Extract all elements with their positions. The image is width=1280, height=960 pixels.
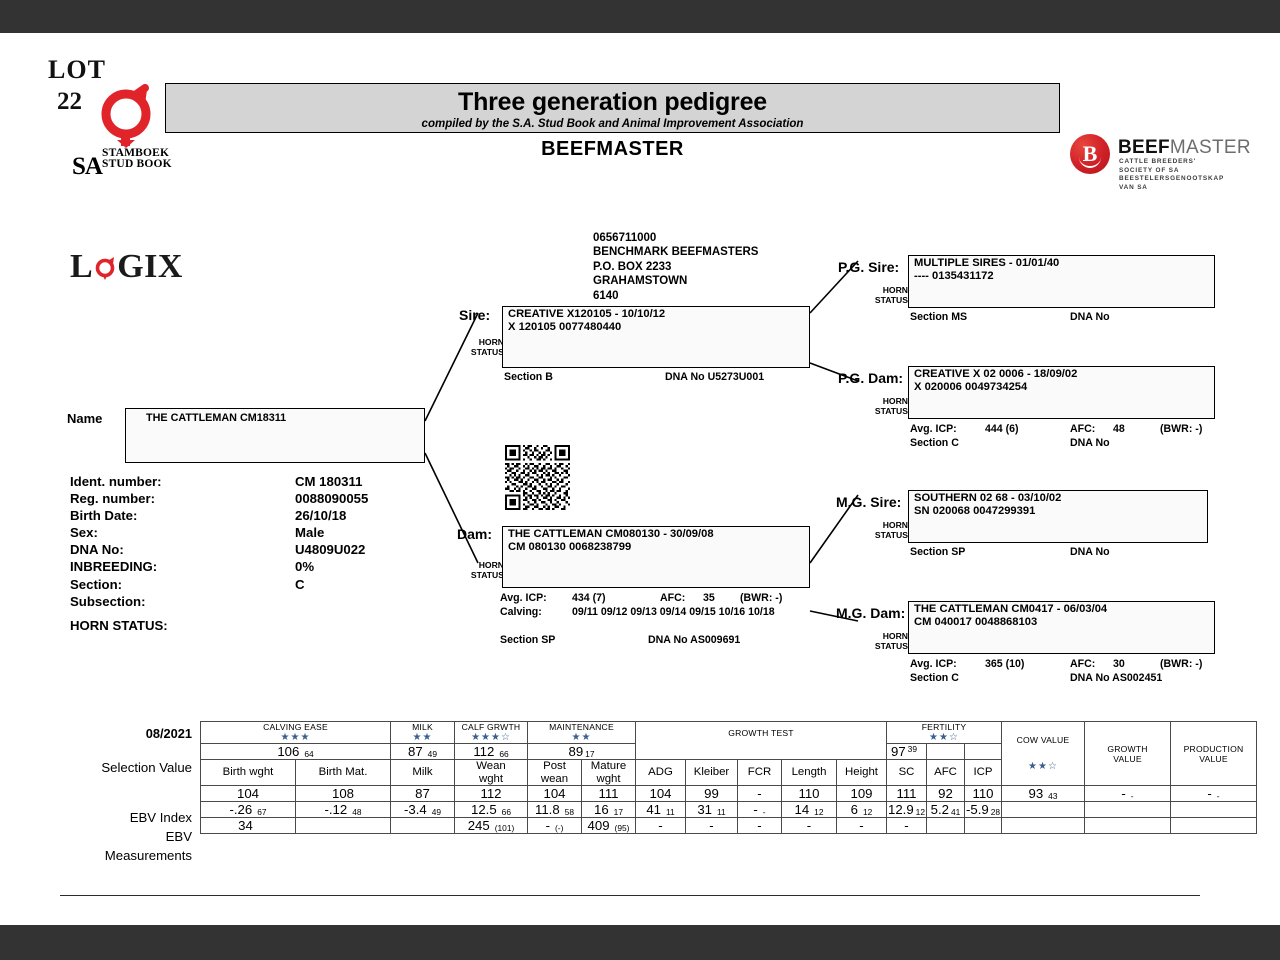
meas-post-wean: -(-): [528, 818, 582, 834]
dam-section: Section SP: [500, 634, 555, 646]
pg-dam-label: P.G. Dam:: [838, 370, 903, 386]
pg-dam-afc-label: AFC:: [1070, 423, 1095, 435]
pg-sire-section: Section MS: [910, 311, 967, 323]
breed-name: BEEFMASTER: [165, 138, 1060, 161]
mg-dam-bwr: (BWR: -): [1160, 658, 1202, 670]
col-milk: Milk: [391, 760, 455, 786]
mg-sire-box: SOUTHERN 02 68 - 03/10/02 SN 020068 0047…: [908, 490, 1208, 543]
group-growth-test: GROWTH TEST: [636, 722, 887, 760]
row-dna-no: DNA No:U4809U022: [70, 541, 368, 558]
mg-dam-icp-label: Avg. ICP:: [910, 658, 957, 670]
group-milk: MILK ★★: [391, 722, 455, 744]
ebvidx-birth-wght: 104: [201, 786, 296, 802]
row-subsection: Subsection:: [70, 593, 368, 610]
dam-label: Dam:: [457, 526, 492, 542]
group-calf-grwth-label: CALF GRWTH: [455, 722, 527, 732]
meas-production-value-blank: [1171, 818, 1257, 834]
group-fertility: FERTILITY ★★☆: [887, 722, 1002, 744]
sire-box: CREATIVE X120105 - 10/10/12 X 120105 007…: [502, 306, 810, 368]
pg-dam-section: Section C: [910, 437, 959, 449]
col-birth-mat: Birth Mat.: [296, 760, 391, 786]
animal-identity-table: Ident. number:CM 180311 Reg. number:0088…: [70, 473, 368, 610]
breeder-po-box: P.O. BOX 2233: [593, 261, 671, 273]
mg-dam-section: Section C: [910, 672, 959, 684]
sa-studbook-wordmark: SASTAMBOEKSTUD BOOK: [72, 148, 172, 181]
dam-name: THE CATTLEMAN CM080130 - 30/09/08: [508, 528, 714, 540]
sel-fertility: 9739: [887, 744, 927, 760]
beefmaster-sub2: BEESTELERSGENOOTSKAP VAN SA: [1119, 175, 1224, 191]
mg-sire-dna: DNA No: [1070, 546, 1110, 558]
mg-sire-ids: SN 020068 0047299391: [914, 505, 1035, 517]
row-section: Section:C: [70, 576, 368, 593]
ebv-wean-wght: 12.566: [455, 802, 528, 818]
ebv-kleiber: 3111: [686, 802, 738, 818]
row-label-ebv: EBV: [60, 829, 192, 844]
qr-code-icon: [505, 445, 570, 510]
logix-o-ring-icon: [93, 252, 117, 278]
beefmaster-wordmark: BEEFMASTER: [1118, 137, 1251, 159]
ebvidx-length: 110: [782, 786, 837, 802]
value-ident-number: CM 180311: [295, 474, 362, 489]
dam-icp-value: 434 (7): [572, 592, 606, 604]
ebvidx-milk: 87: [391, 786, 455, 802]
table-row-ebv: -.2667 -.1248 -3.449 12.566 11.858 1617 …: [201, 802, 1257, 818]
sel-calving-ease: 10664: [201, 744, 391, 760]
pg-sire-ids: ---- 0135431172: [914, 270, 994, 282]
sa-studbook-emblem-icon: [95, 78, 163, 148]
group-calf-grwth: CALF GRWTH ★★★☆: [455, 722, 528, 744]
ebvidx-kleiber: 99: [686, 786, 738, 802]
group-calving-ease-stars: ★★★: [201, 733, 390, 743]
sel-blank-2: [965, 744, 1002, 760]
value-inbreeding: 0%: [295, 559, 314, 574]
group-calving-ease-label: CALVING EASE: [201, 722, 390, 732]
beefmaster-sub1: CATTLE BREEDERS' SOCIETY OF SA: [1119, 158, 1196, 174]
ebv-mature-wght: 1617: [582, 802, 636, 818]
top-black-bar: [0, 0, 1280, 33]
dam-bwr: (BWR: -): [740, 592, 782, 604]
ebv-sc: 12.912: [887, 802, 927, 818]
banner-subtitle: compiled by the S.A. Stud Book and Anima…: [166, 118, 1059, 130]
animal-name: THE CATTLEMAN CM18311: [146, 412, 286, 424]
ebvidx-sc: 111: [887, 786, 927, 802]
pg-sire-dna: DNA No: [1070, 311, 1110, 323]
meas-icp: [965, 818, 1002, 834]
ebv-post-wean: 11.858: [528, 802, 582, 818]
ebv-height: 612: [837, 802, 887, 818]
dam-afc-label: AFC:: [660, 592, 685, 604]
col-mature-wght: Maturewght: [582, 760, 636, 786]
col-adg: ADG: [636, 760, 686, 786]
group-calving-ease: CALVING EASE ★★★: [201, 722, 391, 744]
meas-cow-value-blank: [1002, 818, 1085, 834]
meas-growth-value-blank: [1085, 818, 1171, 834]
value-reg-number: 0088090055: [295, 491, 368, 506]
mg-dam-name: THE CATTLEMAN CM0417 - 06/03/04: [914, 603, 1107, 615]
ebv-icp: -5.928: [965, 802, 1002, 818]
mg-dam-icp-value: 365 (10): [985, 658, 1024, 670]
meas-mature-wght: 409(95): [582, 818, 636, 834]
growth-value-acc: -: [1126, 791, 1134, 801]
mg-sire-label: M.G. Sire:: [836, 494, 901, 510]
meas-wean-wght: 245(101): [455, 818, 528, 834]
sel-calf-grwth: 11266: [455, 744, 528, 760]
ebvidx-adg: 104: [636, 786, 686, 802]
row-sex: Sex:Male: [70, 524, 368, 541]
title-banner: Three generation pedigree compiled by th…: [165, 83, 1060, 133]
dam-horn-status-label: HORNSTATUS: [458, 560, 504, 580]
beefmaster-letter: B: [1070, 134, 1110, 174]
mg-sire-horn-status-label: HORNSTATUS: [862, 520, 908, 540]
group-milk-stars: ★★: [391, 733, 454, 743]
col-length: Length: [782, 760, 837, 786]
label-section: Section:: [70, 576, 295, 593]
ebvidx-cow-value: 9343: [1002, 786, 1085, 802]
ebv-length: 1412: [782, 802, 837, 818]
beefmaster-bold: BEEF: [1118, 137, 1170, 158]
lot-number: 22: [57, 88, 82, 116]
mg-dam-afc-value: 30: [1113, 658, 1125, 670]
mg-dam-box: THE CATTLEMAN CM0417 - 06/03/04 CM 04001…: [908, 601, 1215, 654]
group-growth-test-label: GROWTH TEST: [636, 728, 886, 738]
ebv-adg: 4111: [636, 802, 686, 818]
row-label-ebv-index: EBV Index: [60, 810, 192, 825]
group-growth-value: GROWTHVALUE: [1085, 722, 1171, 786]
ebv-birth-mat: -.1248: [296, 802, 391, 818]
cow-value-acc: 43: [1043, 791, 1057, 801]
meas-birth-mat: [296, 818, 391, 834]
pg-sire-label: P.G. Sire:: [838, 259, 899, 275]
logix-logo: LGIX: [70, 248, 183, 286]
label-inbreeding: INBREEDING:: [70, 558, 295, 575]
ebvidx-height: 109: [837, 786, 887, 802]
pg-dam-box: CREATIVE X 02 0006 - 18/09/02 X 020006 0…: [908, 366, 1215, 419]
sel-blank-1: [927, 744, 965, 760]
sel-fertility-acc: 39: [906, 744, 917, 754]
table-row-measurements: 34 245(101) -(-) 409(95) - - - - - -: [201, 818, 1257, 834]
sel-milk-acc: 49: [423, 749, 437, 759]
pg-dam-icp-label: Avg. ICP:: [910, 423, 957, 435]
pg-dam-afc-value: 48: [1113, 423, 1125, 435]
pedigree-page: LOT 22 SASTAMBOEKSTUD BOOK Three generat…: [0, 33, 1280, 925]
ebvidx-post-wean: 104: [528, 786, 582, 802]
sel-calf-grwth-acc: 66: [494, 749, 508, 759]
beefmaster-society-lines: CATTLE BREEDERS' SOCIETY OF SA BEESTELER…: [1119, 158, 1230, 192]
ebv-birth-wght: -.2667: [201, 802, 296, 818]
meas-kleiber: -: [686, 818, 738, 834]
ebv-fcr: --: [738, 802, 782, 818]
ebv-growth-value-blank: [1085, 802, 1171, 818]
sa-text: SA: [72, 153, 102, 180]
name-label: Name: [67, 411, 102, 426]
group-fertility-stars: ★★☆: [887, 733, 1001, 743]
dam-dna: DNA No AS009691: [648, 634, 740, 646]
group-production-value: PRODUCTIONVALUE: [1171, 722, 1257, 786]
sire-dna: DNA No U5273U001: [665, 371, 764, 383]
ebvidx-icp: 110: [965, 786, 1002, 802]
ebv-milk: -3.449: [391, 802, 455, 818]
col-sc: SC: [887, 760, 927, 786]
col-birth-wght: Birth wght: [201, 760, 296, 786]
pg-sire-name: MULTIPLE SIRES - 01/01/40: [914, 257, 1059, 269]
label-sex: Sex:: [70, 524, 295, 541]
cow-value-index: 93: [1029, 786, 1044, 801]
ebvidx-birth-mat: 108: [296, 786, 391, 802]
meas-length: -: [782, 818, 837, 834]
group-cow-value-stars: ★★☆: [1002, 762, 1084, 772]
ebvidx-mature-wght: 111: [582, 786, 636, 802]
animal-horn-status-label: HORN STATUS:: [70, 618, 168, 633]
meas-sc: -: [887, 818, 927, 834]
mg-sire-name: SOUTHERN 02 68 - 03/10/02: [914, 492, 1061, 504]
mg-dam-dna: DNA No AS002451: [1070, 672, 1162, 684]
pg-dam-icp-value: 444 (6): [985, 423, 1019, 435]
label-birth-date: Birth Date:: [70, 507, 295, 524]
mg-dam-afc-label: AFC:: [1070, 658, 1095, 670]
mg-dam-ids: CM 040017 0048868103: [914, 616, 1037, 628]
group-growth-value-label: GROWTHVALUE: [1085, 744, 1170, 764]
sel-calving-ease-acc: 64: [299, 749, 313, 759]
pg-dam-horn-status-label: HORNSTATUS: [862, 396, 908, 416]
pg-dam-ids: X 020006 0049734254: [914, 381, 1027, 393]
meas-milk: [391, 818, 455, 834]
meas-adg: -: [636, 818, 686, 834]
ebv-cow-value-blank: [1002, 802, 1085, 818]
value-sex: Male: [295, 525, 324, 540]
mg-dam-horn-status-label: HORNSTATUS: [862, 631, 908, 651]
breeder-address-block: 0656711000 BENCHMARK BEEFMASTERS P.O. BO…: [593, 231, 758, 303]
group-calf-grwth-stars: ★★★☆: [455, 733, 527, 743]
sel-calf-grwth-value: 112: [473, 744, 494, 759]
sire-section: Section B: [504, 371, 553, 383]
beefmaster-logo: B BEEFMASTER CATTLE BREEDERS' SOCIETY OF…: [1070, 131, 1230, 177]
row-label-measurements: Measurements: [60, 848, 192, 863]
col-post-wean: Postwean: [528, 760, 582, 786]
beefmaster-light: MASTER: [1170, 137, 1251, 158]
sel-maintenance-value: 89: [569, 744, 584, 759]
breeder-city: GRAHAMSTOWN: [593, 275, 687, 287]
label-subsection: Subsection:: [70, 593, 295, 610]
group-cow-value: COW VALUE ★★☆: [1002, 722, 1085, 786]
meas-fcr: -: [738, 818, 782, 834]
group-production-value-label: PRODUCTIONVALUE: [1171, 744, 1256, 764]
label-dna-no: DNA No:: [70, 541, 295, 558]
row-label-selection-value: Selection Value: [60, 760, 192, 775]
beefmaster-roundel-icon: B: [1070, 134, 1110, 174]
ebvidx-production-value: --: [1171, 786, 1257, 802]
pg-sire-horn-status-label: HORNSTATUS: [862, 285, 908, 305]
sel-maintenance: 8917: [528, 744, 636, 760]
meas-afc: [927, 818, 965, 834]
meas-birth-wght: 34: [201, 818, 296, 834]
value-dna-no: U4809U022: [295, 542, 365, 557]
table-row-ebv-index: 104 108 87 112 104 111 104 99 - 110 109 …: [201, 786, 1257, 802]
production-value-acc: -: [1212, 791, 1220, 801]
col-wean-wght: Weanwght: [455, 760, 528, 786]
label-reg-number: Reg. number:: [70, 490, 295, 507]
breeder-postal-code: 6140: [593, 290, 619, 302]
pg-sire-box: MULTIPLE SIRES - 01/01/40 ---- 013543117…: [908, 255, 1215, 308]
banner-title: Three generation pedigree: [166, 88, 1059, 117]
sel-maintenance-acc: 17: [583, 749, 594, 759]
dam-calving-label: Calving:: [500, 606, 542, 618]
value-birth-date: 26/10/18: [295, 508, 346, 523]
animal-name-box: THE CATTLEMAN CM18311: [125, 408, 425, 463]
col-kleiber: Kleiber: [686, 760, 738, 786]
group-maintenance-stars: ★★: [528, 733, 635, 743]
meas-height: -: [837, 818, 887, 834]
dam-calving-value: 09/11 09/12 09/13 09/14 09/15 10/16 10/1…: [572, 606, 775, 618]
ebv-table: CALVING EASE ★★★ MILK ★★ CALF GRWTH ★★★☆…: [200, 721, 1257, 834]
col-height: Height: [837, 760, 887, 786]
row-ident-number: Ident. number:CM 180311: [70, 473, 368, 490]
mg-dam-label: M.G. Dam:: [836, 605, 905, 621]
dam-icp-label: Avg. ICP:: [500, 592, 547, 604]
ebv-production-value-blank: [1171, 802, 1257, 818]
dam-afc-value: 35: [703, 592, 715, 604]
ebvidx-growth-value: --: [1085, 786, 1171, 802]
sel-milk-value: 87: [408, 744, 423, 759]
ebv-afc: 5.241: [927, 802, 965, 818]
sel-milk: 8749: [391, 744, 455, 760]
sire-name: CREATIVE X120105 - 10/10/12: [508, 308, 665, 320]
pg-dam-bwr: (BWR: -): [1160, 423, 1202, 435]
sire-horn-status-label: HORNSTATUS: [458, 337, 504, 357]
sel-calving-ease-value: 106: [277, 744, 299, 759]
col-afc: AFC: [927, 760, 965, 786]
row-inbreeding: INBREEDING:0%: [70, 558, 368, 575]
col-icp: ICP: [965, 760, 1002, 786]
mg-sire-section: Section SP: [910, 546, 965, 558]
stambook-line2: STUD BOOK: [102, 158, 172, 170]
value-section: C: [295, 577, 305, 592]
ebvidx-afc: 92: [927, 786, 965, 802]
sire-ids: X 120105 0077480440: [508, 321, 621, 333]
sire-label: Sire:: [459, 307, 490, 323]
table-row-group-headers: CALVING EASE ★★★ MILK ★★ CALF GRWTH ★★★☆…: [201, 722, 1257, 744]
table-bottom-rule: [60, 895, 1200, 896]
ebvidx-wean-wght: 112: [455, 786, 528, 802]
group-maintenance-label: MAINTENANCE: [528, 722, 635, 732]
breeder-name: BENCHMARK BEEFMASTERS: [593, 246, 758, 258]
breeder-code: 0656711000: [593, 232, 656, 244]
pg-dam-dna: DNA No: [1070, 437, 1110, 449]
row-birth-date: Birth Date:26/10/18: [70, 507, 368, 524]
group-maintenance: MAINTENANCE ★★: [528, 722, 636, 744]
pg-dam-name: CREATIVE X 02 0006 - 18/09/02: [914, 368, 1077, 380]
group-fertility-label: FERTILITY: [887, 722, 1001, 732]
label-ident-number: Ident. number:: [70, 473, 295, 490]
dam-box: THE CATTLEMAN CM080130 - 30/09/08 CM 080…: [502, 526, 810, 588]
bottom-black-bar: [0, 925, 1280, 960]
sel-fertility-value: 97: [891, 744, 906, 759]
group-cow-value-label: COW VALUE: [1002, 735, 1084, 745]
ebv-report-date: 08/2021: [60, 726, 192, 741]
dam-ids: CM 080130 0068238799: [508, 541, 631, 553]
ebvidx-fcr: -: [738, 786, 782, 802]
col-fcr: FCR: [738, 760, 782, 786]
row-reg-number: Reg. number:0088090055: [70, 490, 368, 507]
group-milk-label: MILK: [391, 722, 454, 732]
